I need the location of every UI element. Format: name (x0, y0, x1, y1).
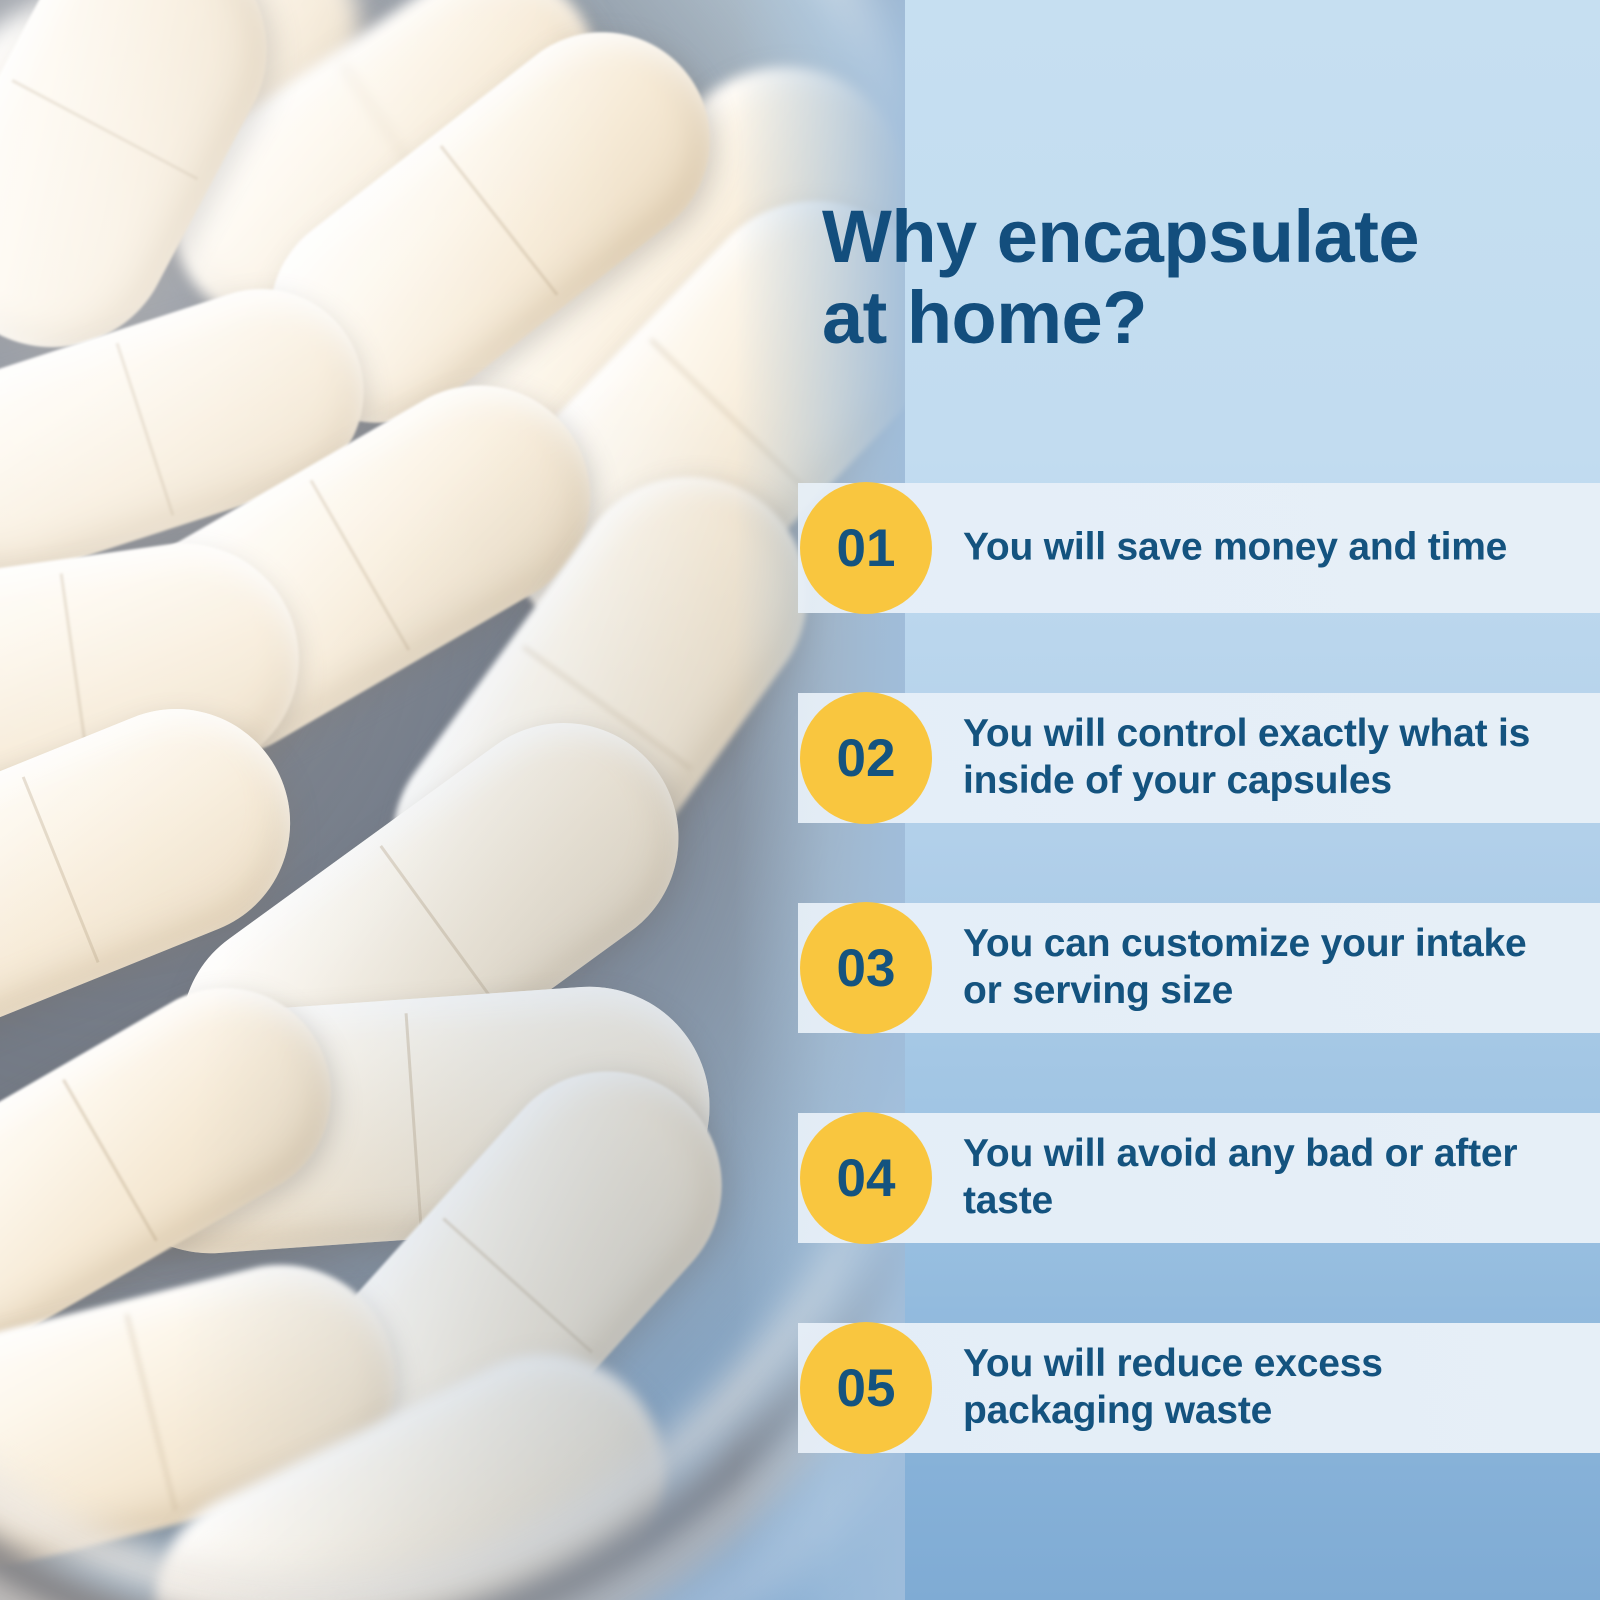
list-item-number-badge: 05 (800, 1322, 932, 1454)
page-title-line-2: at home? (822, 277, 1542, 358)
list-item-label: You will control exactly what is inside … (963, 711, 1573, 805)
page-title: Why encapsulate at home? (822, 196, 1542, 359)
page-title-line-1: Why encapsulate (822, 196, 1542, 277)
list-item-label: You will reduce excess packaging waste (963, 1341, 1573, 1435)
list-item-label: You will avoid any bad or after taste (963, 1131, 1573, 1225)
list-item-label: You can customize your intake or serving… (963, 921, 1573, 1015)
list-item-number-badge: 01 (800, 482, 932, 614)
list-item: 05 You will reduce excess packaging wast… (0, 1323, 1600, 1453)
list-item: 02 You will control exactly what is insi… (0, 693, 1600, 823)
list-item-number-badge: 04 (800, 1112, 932, 1244)
list-item: 04 You will avoid any bad or after taste (0, 1113, 1600, 1243)
benefits-list: 01 You will save money and time 02 You w… (0, 483, 1600, 1533)
list-item-number-badge: 03 (800, 902, 932, 1034)
list-item: 03 You can customize your intake or serv… (0, 903, 1600, 1033)
list-item-number-badge: 02 (800, 692, 932, 824)
list-item: 01 You will save money and time (0, 483, 1600, 613)
infographic-canvas: Why encapsulate at home? 01 You will sav… (0, 0, 1600, 1600)
list-item-label: You will save money and time (963, 525, 1573, 572)
